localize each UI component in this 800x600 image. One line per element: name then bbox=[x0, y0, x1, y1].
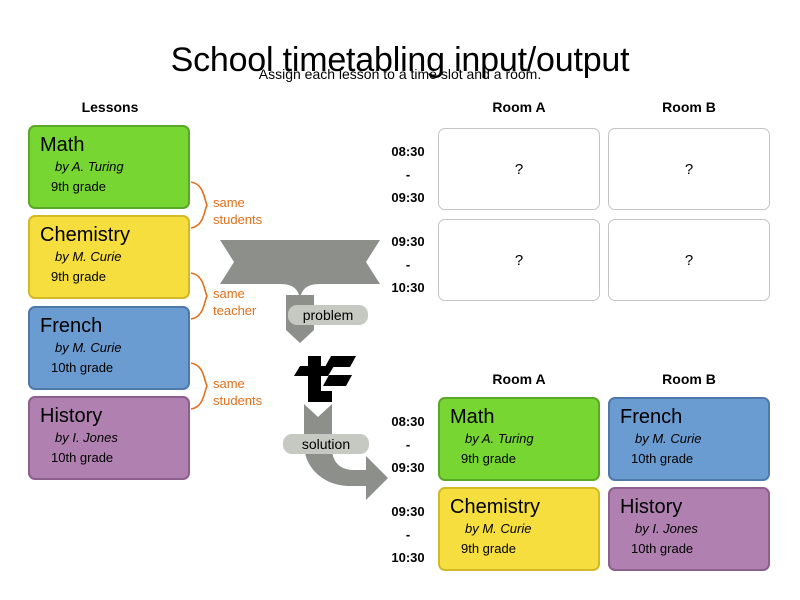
lesson-grade: 9th grade bbox=[440, 449, 598, 469]
lesson-grade: 9th grade bbox=[30, 267, 188, 287]
timefold-logo bbox=[288, 356, 356, 407]
lesson-grade: 10th grade bbox=[30, 358, 188, 378]
timeslot-end: 10:30 bbox=[375, 276, 441, 299]
lesson-teacher: by M. Curie bbox=[440, 519, 598, 539]
timeslot-dash: - bbox=[375, 253, 441, 276]
constraint-line-2: students bbox=[213, 392, 262, 409]
timeslot-dash: - bbox=[375, 523, 441, 546]
problem-funnel-arrow bbox=[220, 235, 380, 350]
brace-same-teacher bbox=[190, 272, 212, 325]
lesson-subject: French bbox=[30, 314, 188, 338]
output-cell-slot1-room-b[interactable]: French by M. Curie 10th grade bbox=[608, 397, 770, 481]
solution-badge: solution bbox=[283, 434, 369, 454]
input-cell-slot1-room-b[interactable]: ? bbox=[608, 128, 770, 210]
brace-same-students-2 bbox=[190, 362, 212, 415]
timeslot-end: 09:30 bbox=[375, 456, 441, 479]
lesson-teacher: by I. Jones bbox=[30, 428, 188, 448]
constraint-line-2: students bbox=[213, 211, 262, 228]
timeslot-start: 08:30 bbox=[375, 410, 441, 433]
lesson-teacher: by M. Curie bbox=[610, 429, 768, 449]
lesson-subject: Math bbox=[440, 405, 598, 429]
lesson-card-french[interactable]: French by M. Curie 10th grade bbox=[28, 306, 190, 390]
lesson-subject: History bbox=[30, 404, 188, 428]
lesson-grade: 9th grade bbox=[30, 177, 188, 197]
output-room-header-b: Room B bbox=[608, 371, 770, 387]
input-timeslot-1: 08:30 - 09:30 bbox=[375, 140, 441, 209]
lesson-card-math[interactable]: Math by A. Turing 9th grade bbox=[28, 125, 190, 209]
timeslot-end: 09:30 bbox=[375, 186, 441, 209]
lesson-grade: 10th grade bbox=[30, 448, 188, 468]
output-room-header-a: Room A bbox=[438, 371, 600, 387]
constraint-label-same-students-1: same students bbox=[213, 194, 262, 228]
lesson-teacher: by I. Jones bbox=[610, 519, 768, 539]
lesson-card-chemistry[interactable]: Chemistry by M. Curie 9th grade bbox=[28, 215, 190, 299]
lesson-teacher: by A. Turing bbox=[440, 429, 598, 449]
input-room-header-b: Room B bbox=[608, 99, 770, 115]
input-room-header-a: Room A bbox=[438, 99, 600, 115]
problem-badge: problem bbox=[288, 305, 368, 325]
constraint-label-same-students-2: same students bbox=[213, 375, 262, 409]
constraint-line-1: same bbox=[213, 194, 262, 211]
solution-arrow bbox=[278, 404, 388, 515]
lesson-subject: Chemistry bbox=[30, 223, 188, 247]
lesson-teacher: by M. Curie bbox=[30, 338, 188, 358]
lesson-subject: Chemistry bbox=[440, 495, 598, 519]
lesson-grade: 10th grade bbox=[610, 449, 768, 469]
brace-same-students-1 bbox=[190, 181, 212, 234]
lesson-grade: 9th grade bbox=[440, 539, 598, 559]
input-cell-slot1-room-a[interactable]: ? bbox=[438, 128, 600, 210]
timeslot-start: 09:30 bbox=[375, 230, 441, 253]
output-cell-slot1-room-a[interactable]: Math by A. Turing 9th grade bbox=[438, 397, 600, 481]
timeslot-dash: - bbox=[375, 433, 441, 456]
timeslot-end: 10:30 bbox=[375, 546, 441, 569]
lesson-grade: 10th grade bbox=[610, 539, 768, 559]
timeslot-start: 09:30 bbox=[375, 500, 441, 523]
timeslot-dash: - bbox=[375, 163, 441, 186]
input-cell-slot2-room-b[interactable]: ? bbox=[608, 219, 770, 301]
lesson-card-history[interactable]: History by I. Jones 10th grade bbox=[28, 396, 190, 480]
input-timeslot-2: 09:30 - 10:30 bbox=[375, 230, 441, 299]
lesson-subject: Math bbox=[30, 133, 188, 157]
page-subtitle: Assign each lesson to a time slot and a … bbox=[0, 66, 800, 82]
lesson-subject: French bbox=[610, 405, 768, 429]
output-cell-slot2-room-b[interactable]: History by I. Jones 10th grade bbox=[608, 487, 770, 571]
lessons-heading: Lessons bbox=[28, 99, 192, 115]
timeslot-start: 08:30 bbox=[375, 140, 441, 163]
lesson-subject: History bbox=[610, 495, 768, 519]
lesson-teacher: by M. Curie bbox=[30, 247, 188, 267]
output-cell-slot2-room-a[interactable]: Chemistry by M. Curie 9th grade bbox=[438, 487, 600, 571]
input-cell-slot2-room-a[interactable]: ? bbox=[438, 219, 600, 301]
lesson-teacher: by A. Turing bbox=[30, 157, 188, 177]
constraint-line-1: same bbox=[213, 375, 262, 392]
output-timeslot-2: 09:30 - 10:30 bbox=[375, 500, 441, 569]
output-timeslot-1: 08:30 - 09:30 bbox=[375, 410, 441, 479]
